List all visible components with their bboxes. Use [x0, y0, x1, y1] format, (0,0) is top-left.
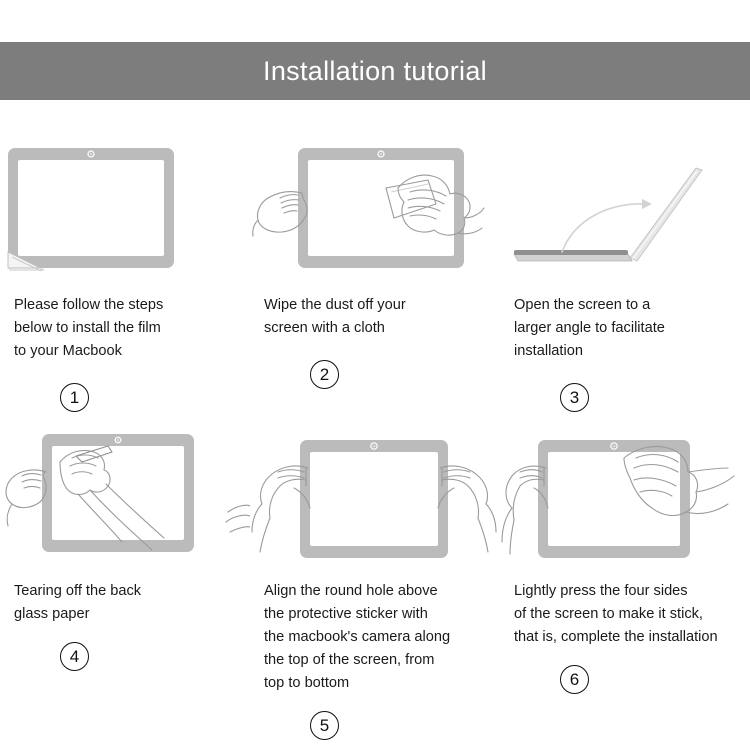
step-number-3: 3 [560, 383, 589, 412]
steps-row-bottom: Tearing off the back glass paper 4 [0, 416, 750, 740]
step-cell-4: Tearing off the back glass paper 4 [0, 416, 250, 740]
page-title: Installation tutorial [263, 58, 487, 85]
step-cell-5: Align the round hole above the protectiv… [250, 416, 500, 740]
step-number-4: 4 [60, 642, 89, 671]
screen-with-two-hands-aligning-film-illustration [250, 426, 500, 566]
step-caption-4: Tearing off the back glass paper [0, 580, 149, 626]
step-number-wrap-4: 4 [0, 642, 250, 671]
step-caption-2: Wipe the dust off your screen with a clo… [250, 294, 414, 340]
steps-row-top: Please follow the steps below to install… [0, 118, 750, 412]
step-number-wrap-5: 5 [250, 711, 500, 740]
step-number-5: 5 [310, 711, 339, 740]
step-cell-6: Lightly press the four sides of the scre… [500, 416, 750, 740]
header-banner: Installation tutorial [0, 42, 750, 100]
step-number-6: 6 [560, 665, 589, 694]
step-caption-5: Align the round hole above the protectiv… [250, 580, 458, 695]
step-cell-2: Wipe the dust off your screen with a clo… [250, 118, 500, 412]
step-number-1: 1 [60, 383, 89, 412]
step-caption-1: Please follow the steps below to install… [0, 294, 171, 363]
screen-with-hand-wiping-cloth-illustration [250, 140, 500, 280]
screen-with-hand-pressing-sides-illustration [500, 426, 750, 566]
step-number-wrap-6: 6 [500, 665, 750, 694]
step-cell-3: Open the screen to a larger angle to fac… [500, 118, 750, 412]
laptop-side-profile-opening-angle-illustration [500, 140, 750, 280]
step-number-wrap-3: 3 [500, 383, 750, 412]
step-number-wrap-2: 2 [250, 360, 500, 389]
step-number-2: 2 [310, 360, 339, 389]
step-number-wrap-1: 1 [0, 383, 250, 412]
step-cell-1: Please follow the steps below to install… [0, 118, 250, 412]
step-caption-3: Open the screen to a larger angle to fac… [500, 294, 673, 363]
steps-grid: Please follow the steps below to install… [0, 118, 750, 740]
screen-with-peeling-film-corner-illustration [0, 140, 250, 280]
step-caption-6: Lightly press the four sides of the scre… [500, 580, 726, 649]
screen-with-hands-peeling-backing-illustration [0, 426, 250, 566]
